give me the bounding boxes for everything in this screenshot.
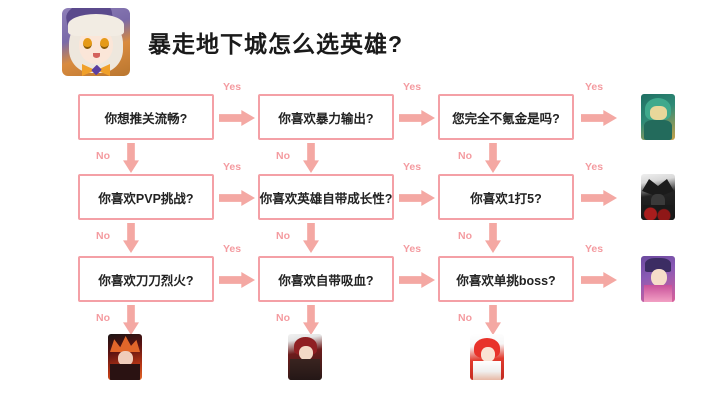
no-branch-q5: No (276, 222, 346, 256)
hero-result-1[interactable] (641, 94, 675, 140)
arrow-down-icon (123, 223, 139, 253)
hero-result-5[interactable] (288, 334, 322, 380)
arrow-right-icon (399, 272, 435, 288)
arrow-down-icon (303, 223, 319, 253)
arrow-down-icon (123, 305, 139, 335)
yes-label: Yes (403, 161, 421, 173)
decision-node-q3[interactable]: 您完全不氪金是吗? (438, 94, 574, 140)
decision-node-q6[interactable]: 你喜欢1打5? (438, 174, 574, 220)
hero-result-3[interactable] (641, 256, 675, 302)
decision-node-q9[interactable]: 你喜欢单挑boss? (438, 256, 574, 302)
hero-result-2[interactable] (641, 174, 675, 220)
decision-node-q1[interactable]: 你想推关流畅? (78, 94, 214, 140)
arrow-right-icon (581, 272, 617, 288)
no-branch-q7: No (96, 304, 166, 338)
page-title: 暴走地下城怎么选英雄? (148, 25, 403, 59)
yes-branch-q5: Yes (396, 174, 440, 220)
no-label: No (458, 150, 472, 162)
yes-label: Yes (223, 81, 241, 93)
no-label: No (458, 230, 472, 242)
arrow-right-icon (219, 272, 255, 288)
no-branch-q8: No (276, 304, 346, 338)
character-avatar-icon (62, 8, 130, 76)
arrow-down-icon (123, 143, 139, 173)
yes-label: Yes (585, 81, 603, 93)
no-label: No (276, 312, 290, 324)
arrow-down-icon (303, 143, 319, 173)
no-label: No (96, 230, 110, 242)
decision-node-q5[interactable]: 你喜欢英雄自带成长性? (258, 174, 394, 220)
no-label: No (276, 150, 290, 162)
no-label: No (96, 150, 110, 162)
yes-label: Yes (585, 161, 603, 173)
yes-branch-q9: Yes (578, 256, 622, 302)
yes-label: Yes (403, 81, 421, 93)
no-branch-q6: No (458, 222, 528, 256)
arrow-right-icon (219, 190, 255, 206)
decision-node-q8[interactable]: 你喜欢自带吸血? (258, 256, 394, 302)
no-label: No (96, 312, 110, 324)
yes-branch-q3: Yes (578, 94, 622, 140)
no-branch-q9: No (458, 304, 528, 338)
no-branch-q1: No (96, 142, 166, 176)
decision-node-q2[interactable]: 你喜欢暴力输出? (258, 94, 394, 140)
yes-branch-q2: Yes (396, 94, 440, 140)
arrow-right-icon (219, 110, 255, 126)
yes-branch-q8: Yes (396, 256, 440, 302)
arrow-right-icon (581, 110, 617, 126)
yes-label: Yes (223, 243, 241, 255)
flowchart-page: 暴走地下城怎么选英雄? 你想推关流畅? Yes 你喜欢暴力输出? Yes 您完全… (0, 0, 720, 400)
yes-branch-q6: Yes (578, 174, 622, 220)
arrow-down-icon (485, 143, 501, 173)
arrow-right-icon (399, 190, 435, 206)
no-branch-q2: No (276, 142, 346, 176)
no-branch-q3: No (458, 142, 528, 176)
yes-branch-q7: Yes (216, 256, 260, 302)
yes-label: Yes (403, 243, 421, 255)
no-label: No (458, 312, 472, 324)
arrow-down-icon (303, 305, 319, 335)
arrow-down-icon (485, 305, 501, 335)
hero-result-4[interactable] (108, 334, 142, 380)
arrow-right-icon (399, 110, 435, 126)
arrow-down-icon (485, 223, 501, 253)
no-label: No (276, 230, 290, 242)
decision-node-q4[interactable]: 你喜欢PVP挑战? (78, 174, 214, 220)
yes-branch-q4: Yes (216, 174, 260, 220)
decision-node-q7[interactable]: 你喜欢刀刀烈火? (78, 256, 214, 302)
yes-branch-q1: Yes (216, 94, 260, 140)
yes-label: Yes (223, 161, 241, 173)
yes-label: Yes (585, 243, 603, 255)
no-branch-q4: No (96, 222, 166, 256)
hero-result-6[interactable] (470, 334, 504, 380)
page-header: 暴走地下城怎么选英雄? (62, 8, 403, 76)
arrow-right-icon (581, 190, 617, 206)
